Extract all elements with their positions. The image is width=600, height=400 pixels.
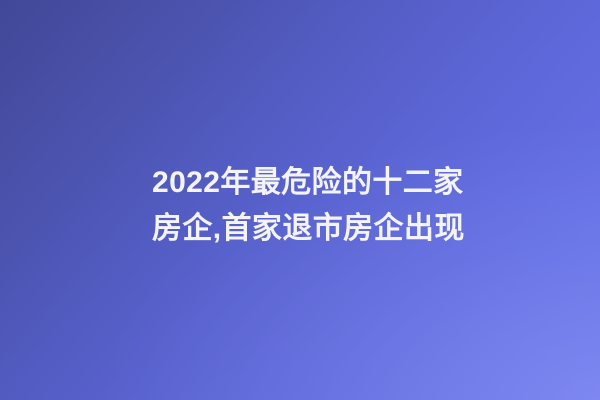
page-title-line-2: 房企,首家退市房企出现: [152, 206, 482, 252]
title-card-banner: 2022年最危险的十二家 房企,首家退市房企出现: [0, 0, 600, 400]
page-title-line-1: 2022年最危险的十二家: [152, 160, 482, 206]
page-title: 2022年最危险的十二家 房企,首家退市房企出现: [152, 160, 482, 252]
